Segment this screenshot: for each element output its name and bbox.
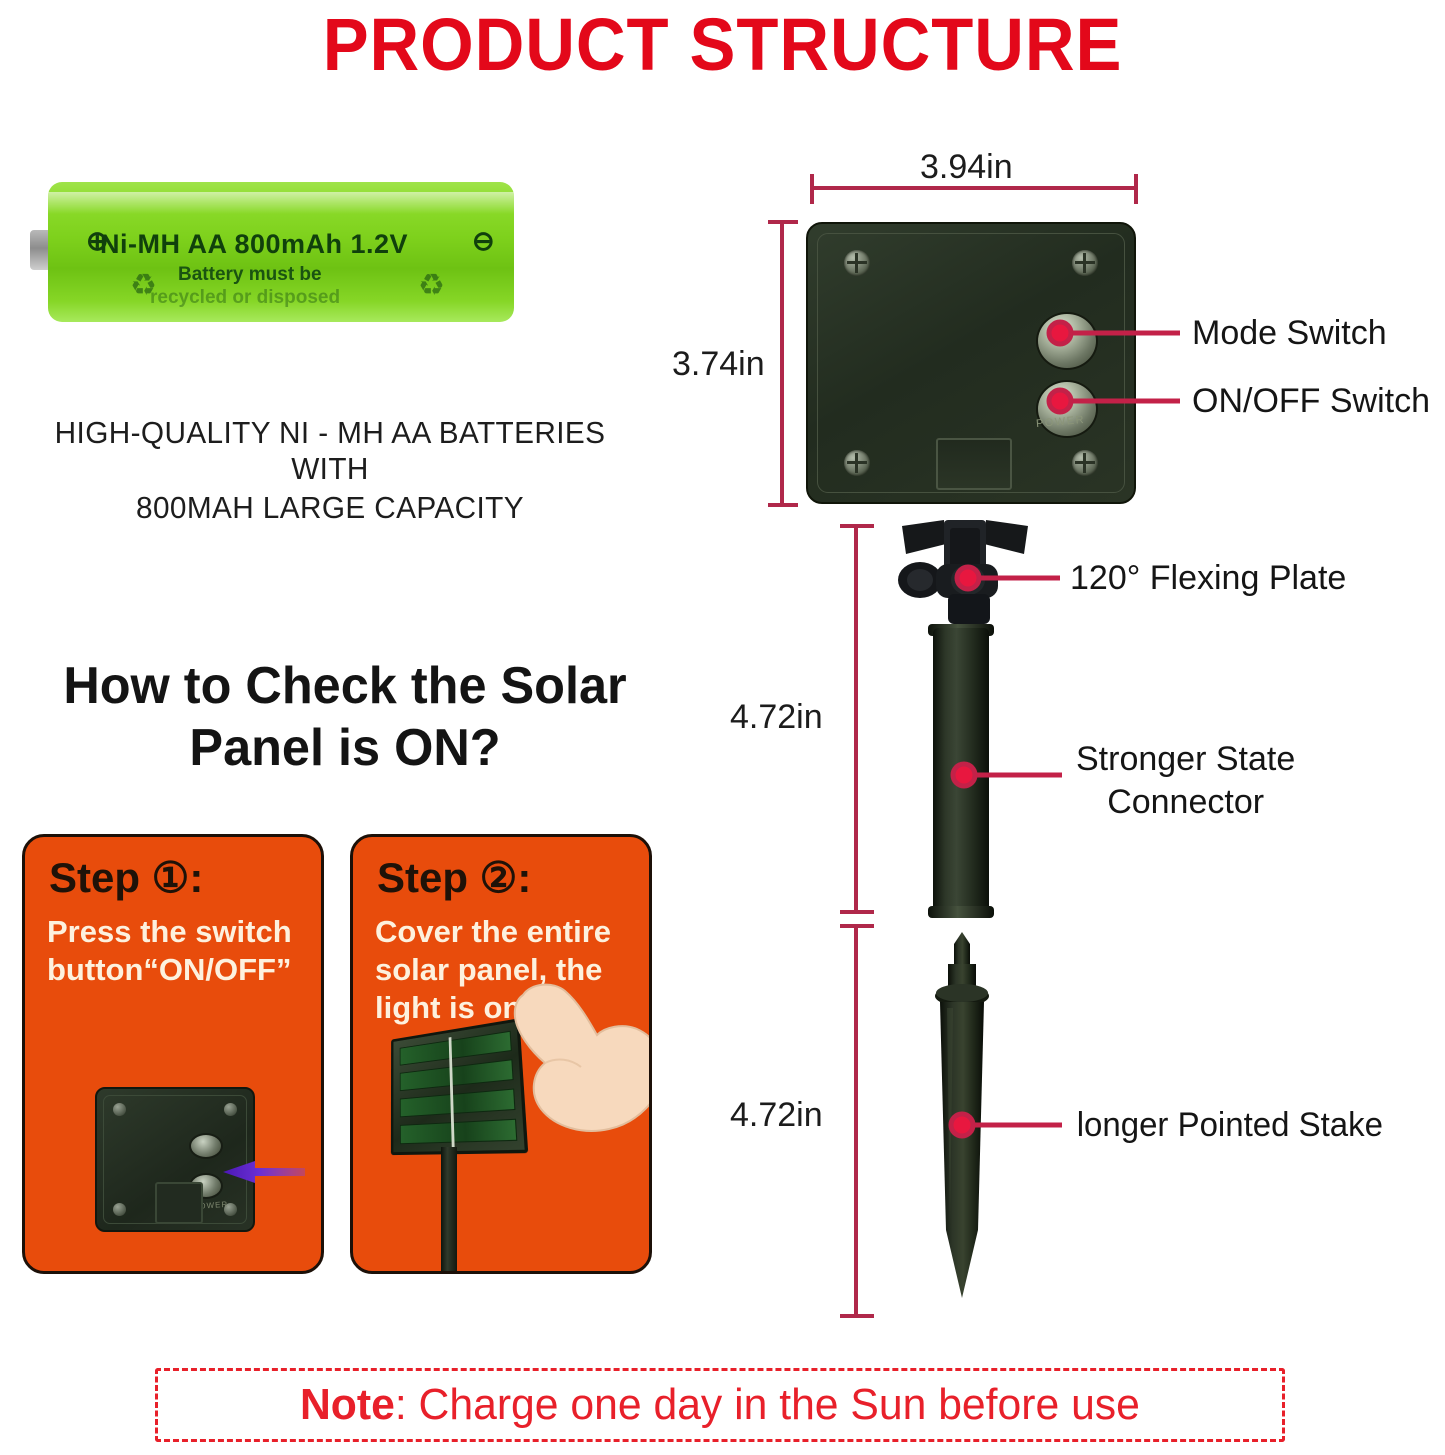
width-dimension-label: 3.94in <box>920 148 1013 187</box>
battery-disposal-line1: Battery must be <box>178 264 322 286</box>
note-text: Note: Charge one day in the Sun before u… <box>300 1380 1140 1430</box>
screw-icon-top-left <box>844 250 870 276</box>
battery-caption-line-2: 800MAH LARGE CAPACITY <box>13 490 647 526</box>
callout-connector: Stronger State Connector <box>1076 738 1295 823</box>
battery-caption-line-1: HIGH-QUALITY NI - MH AA BATTERIES WITH <box>13 415 647 487</box>
solar-cell-2 <box>400 1059 514 1091</box>
note-rest: : Charge one day in the Sun before use <box>395 1380 1140 1429</box>
solar-panel-back-housing: POWER <box>806 222 1136 504</box>
step-1-heading: Step ①: <box>49 853 203 902</box>
mini-screw-icon-tl <box>113 1103 126 1116</box>
note-box: Note: Charge one day in the Sun before u… <box>155 1368 1285 1442</box>
battery-illustration: ⊕ Ni-MH AA 800mAh 1.2V ⊖ Battery must be… <box>30 182 520 322</box>
page-title: PRODUCT STRUCTURE <box>51 2 1395 87</box>
hand-icon <box>505 977 652 1147</box>
purple-pointer-arrow-icon <box>221 1159 305 1185</box>
battery-body: ⊕ Ni-MH AA 800mAh 1.2V ⊖ Battery must be… <box>48 182 514 322</box>
mini-panel-recess <box>155 1182 203 1224</box>
stronger-state-connector-tube <box>933 628 989 916</box>
longer-pointed-stake <box>934 930 990 1300</box>
callout-connector-line-2: Connector <box>1076 781 1295 824</box>
flexing-plate-head <box>890 518 1040 628</box>
battery-spec-text: Ni-MH AA 800mAh 1.2V <box>100 229 500 260</box>
connector-dimension-label: 4.72in <box>730 698 823 737</box>
battery-minus-icon: ⊖ <box>472 226 495 257</box>
solar-cell-3 <box>400 1088 516 1117</box>
height-dimension-label: 3.74in <box>672 345 765 384</box>
mini-screw-icon-bl <box>113 1203 126 1216</box>
step-2-heading: Step ②: <box>377 853 531 902</box>
step-card-1: Step ①: Press the switch button“ON/OFF” … <box>22 834 324 1274</box>
howto-heading: How to Check the Solar Panel is ON? <box>20 655 670 780</box>
mini-screw-icon-tr <box>224 1103 237 1116</box>
mode-switch-button[interactable] <box>1036 312 1098 370</box>
step-card-2: Step ②: Cover the entire solar panel, th… <box>350 834 652 1274</box>
howto-heading-line-1: How to Check the Solar <box>20 655 670 717</box>
callout-mode-switch: Mode Switch <box>1192 312 1387 355</box>
screw-icon-bottom-right <box>1072 450 1098 476</box>
battery-disposal-line2: recycled or disposed <box>150 287 340 309</box>
mini-mode-switch-button <box>189 1133 223 1159</box>
solar-cell-4 <box>400 1119 517 1145</box>
crossed-bin-icon: ♻ <box>130 268 157 303</box>
panel-bottom-recess <box>936 438 1012 490</box>
howto-heading-line-2: Panel is ON? <box>20 717 670 779</box>
callout-stake: longer Pointed Stake <box>1077 1104 1383 1147</box>
connector-collar-bottom <box>928 906 994 918</box>
step-1-body: Press the switch button“ON/OFF” <box>47 913 315 989</box>
stake-dimension-label: 4.72in <box>730 1096 823 1135</box>
callout-onoff-switch: ON/OFF Switch <box>1192 380 1430 423</box>
recycle-icon: ♻ <box>418 268 445 303</box>
screw-icon-top-right <box>1072 250 1098 276</box>
screw-icon-bottom-left <box>844 450 870 476</box>
step-2-pole <box>441 1147 457 1274</box>
note-bold-prefix: Note <box>300 1380 395 1429</box>
callout-connector-line-1: Stronger State <box>1076 738 1295 781</box>
callout-flexing-plate: 120° Flexing Plate <box>1070 557 1346 600</box>
